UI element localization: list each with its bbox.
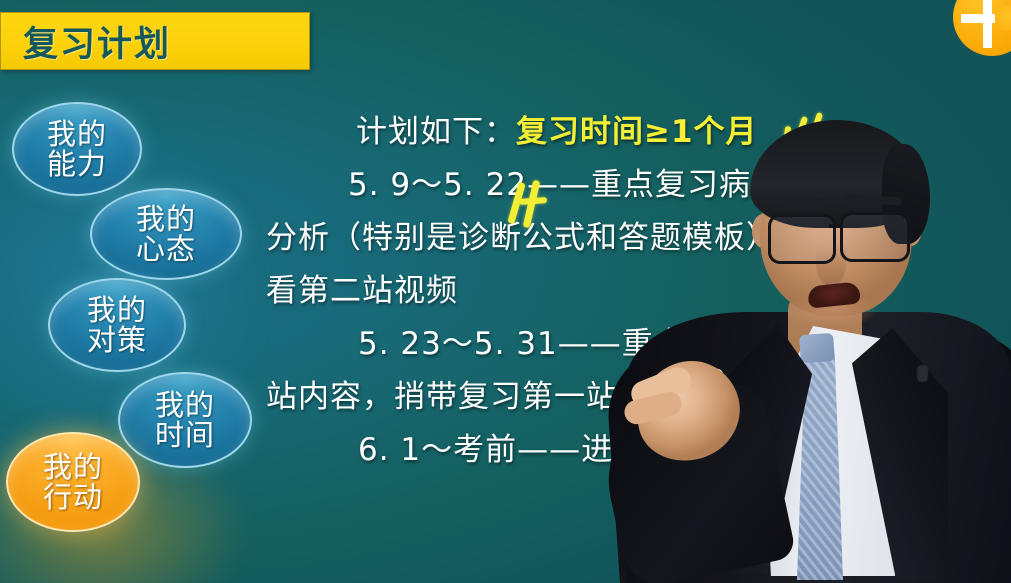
bubble-line-2: 心态 [136,234,196,264]
bubble-line-2: 时间 [155,420,215,450]
bubble-line-1: 我的 [87,295,147,325]
bubble-line-1: 我的 [155,390,215,420]
bubble-line-1: 我的 [43,452,103,482]
bubble-my-action: 我的 行动 [6,432,140,532]
logo-cutout [995,6,1011,30]
bubble-my-mindset: 我的 心态 [90,188,242,280]
presenter-glasses-bridge [829,224,843,228]
presenter-glasses-left-lens [768,214,836,264]
bubble-line-2: 能力 [47,149,107,179]
slide-title-banner: 复习计划 [0,12,310,70]
page-title: 复习计划 [23,16,171,67]
bubble-line-1: 我的 [136,204,196,234]
bubble-my-time: 我的 时间 [118,372,252,468]
lapel-microphone-icon [918,366,927,381]
bubble-my-ability: 我的 能力 [12,102,142,196]
bubble-line-1: 我的 [47,119,107,149]
lecturer-in-dark-suit [600,96,1011,583]
bubble-line-2: 对策 [87,325,147,355]
logo-vertical-bar [983,0,992,48]
presenter-tie-knot [799,333,835,363]
slide-video-frame: 复习计划 我的 能力 我的 心态 我的 对策 我的 时间 我的 行动 计划如下：… [0,0,1011,583]
bubble-line-2: 行动 [43,482,103,512]
body-line-1-prefix: 计划如下： [356,114,516,150]
bubble-my-strategy: 我的 对策 [48,278,186,372]
presenter-glasses-right-lens [840,212,910,262]
